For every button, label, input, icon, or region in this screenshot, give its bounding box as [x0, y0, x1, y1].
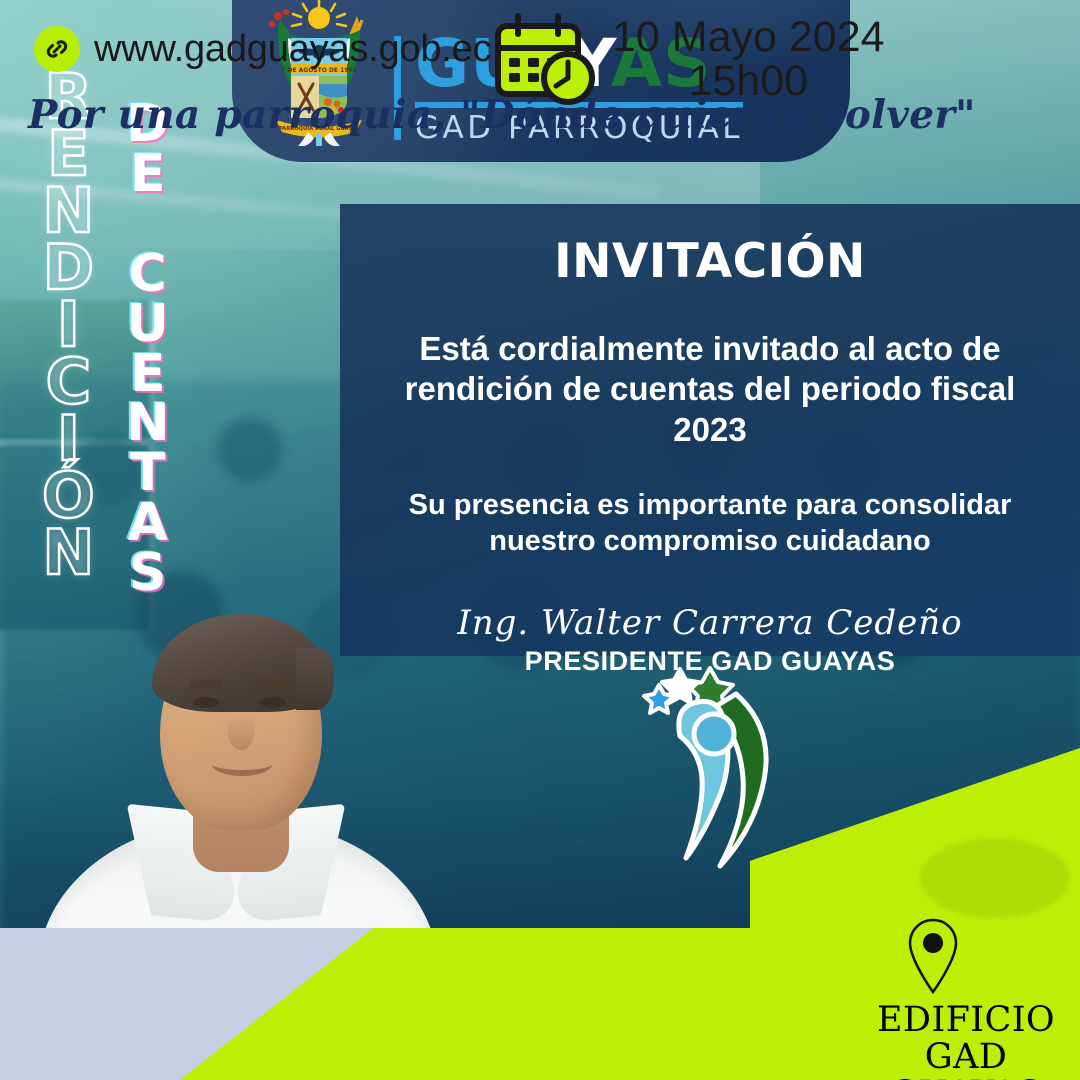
v-letter: C	[129, 250, 167, 300]
v-letter: N	[126, 399, 170, 449]
vertical-title-rendicion: R E N D I C I Ó N	[42, 68, 95, 581]
calendar-clock-icon	[492, 12, 598, 108]
date-time-text: 10 Mayo 2024 15h00	[612, 12, 885, 104]
date-time-row: 10 Mayo 2024 15h00	[492, 12, 885, 108]
panel-paragraph-1: Está cordialmente invitado al acto de re…	[366, 329, 1054, 450]
panel-paragraph-2: Su presencia es importante para consolid…	[380, 488, 1040, 560]
portrait-nose	[228, 716, 254, 750]
portrait-eye-right	[260, 697, 286, 708]
website-url[interactable]: www.gadguayas.gob.ec	[94, 28, 491, 71]
v-letter: U	[127, 300, 169, 350]
v-letter: T	[130, 449, 165, 499]
location-pin-icon	[906, 918, 960, 994]
lime-block-shadow	[920, 838, 1070, 918]
human-figure-stars-logo-icon	[640, 650, 810, 880]
venue-label: EDIFICIO GAD GUAYAS	[852, 1002, 1080, 1080]
event-time: 15h00	[688, 60, 808, 104]
event-date: 10 Mayo 2024	[612, 16, 885, 60]
venue-line-2: GAD GUAYAS	[852, 1039, 1080, 1080]
website-row[interactable]: www.gadguayas.gob.ec	[34, 26, 491, 72]
v-letter: E	[130, 150, 166, 200]
invitation-panel: INVITACIÓN Está cordialmente invitado al…	[340, 204, 1080, 656]
link-chain-icon	[34, 26, 80, 72]
poster-canvas: 7 DE AGOSTO DE 1948 PARROQUIA RURAL GUAY…	[0, 0, 1080, 1080]
portrait-hair	[152, 614, 330, 712]
signature-name: Ing. Walter Carrera Cedeño	[457, 606, 962, 640]
portrait-smile	[212, 752, 272, 776]
mascot-head	[694, 714, 734, 754]
venue-line-1: EDIFICIO	[852, 1002, 1080, 1039]
portrait-eye-left	[193, 697, 219, 708]
v-letter: E	[130, 350, 166, 400]
panel-title: INVITACIÓN	[554, 234, 866, 289]
